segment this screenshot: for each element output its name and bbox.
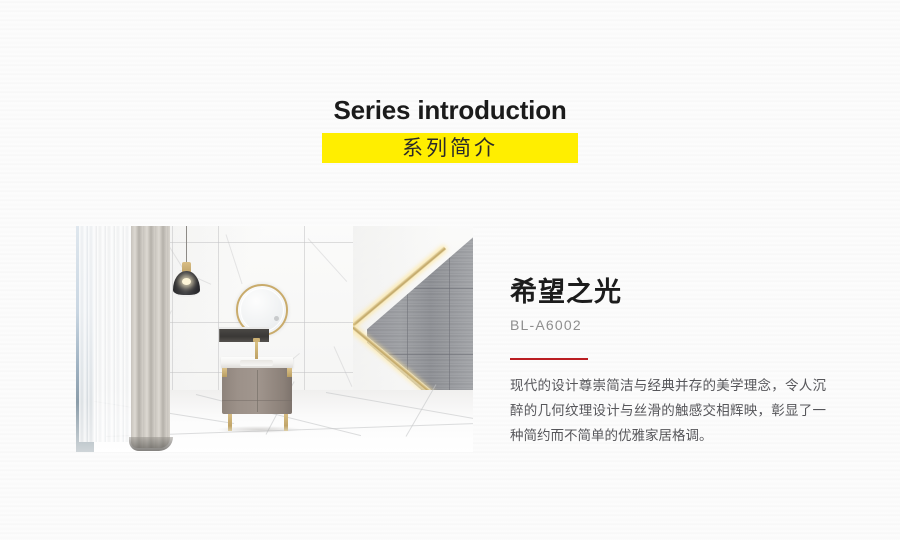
grey-drape <box>131 226 170 448</box>
cabinet-gold-trim-right <box>287 368 292 377</box>
cabinet-drawer-lip <box>222 400 292 401</box>
mirror-led-ring <box>240 288 284 332</box>
pendant-lamp-bulb <box>182 278 191 285</box>
floor-seam <box>326 392 473 421</box>
page-title-cn: 系列简介 <box>322 133 578 163</box>
cabinet-gold-trim-left <box>222 368 227 377</box>
cabinet-door-split <box>257 370 258 412</box>
product-info: 希望之光 BL-A6002 现代的设计尊崇简洁与经典并存的美学理念，令人沉醉的几… <box>510 276 840 449</box>
product-title: 希望之光 <box>510 276 840 309</box>
page-title-en: Series introduction <box>0 94 900 126</box>
vanity-floor-shadow <box>217 426 301 433</box>
gold-faucet-head <box>253 338 260 342</box>
gold-faucet <box>255 339 258 359</box>
chevron-cut-upper <box>353 226 473 350</box>
product-model-number: BL-A6002 <box>510 316 840 334</box>
mirror-touch-sensor-icon <box>274 316 279 321</box>
tile-grout-line <box>218 226 219 416</box>
tile-grout-line <box>304 226 305 416</box>
page-root: Series introduction 系列简介 <box>0 0 900 540</box>
product-description: 现代的设计尊崇简洁与经典并存的美学理念，令人沉醉的几何纹理设计与丝滑的触感交相辉… <box>510 374 826 449</box>
accent-divider <box>510 358 588 360</box>
page-header: Series introduction 系列简介 <box>0 94 900 163</box>
pendant-lamp-cord <box>186 226 187 264</box>
sheer-curtain <box>79 226 137 442</box>
page-title-cn-wrap: 系列简介 <box>0 133 900 163</box>
wall-shelf <box>219 329 269 342</box>
vanity-basin <box>240 360 273 366</box>
tile-grout-line <box>172 226 173 416</box>
product-photo <box>76 226 473 452</box>
